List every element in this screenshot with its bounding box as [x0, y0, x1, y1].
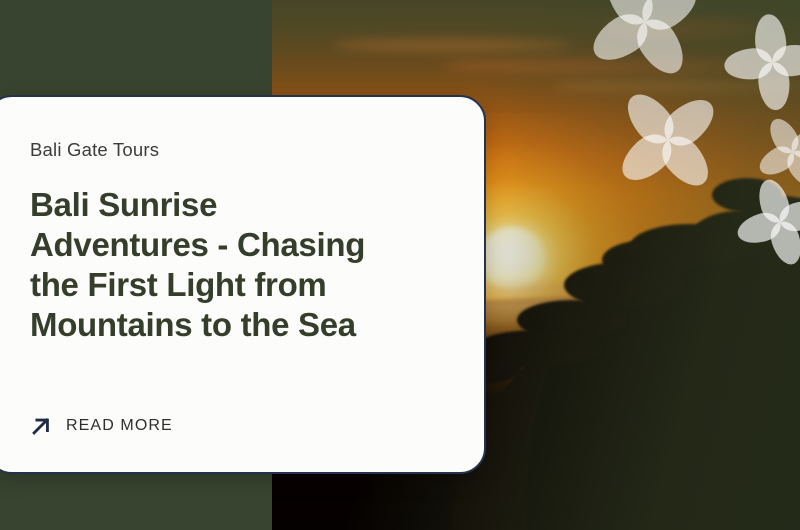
arrow-up-right-icon: [30, 415, 52, 437]
content-card: Bali Gate Tours Bali Sunrise Adventures …: [0, 95, 486, 474]
cloud-streak: [552, 80, 800, 92]
page-title: Bali Sunrise Adventures - Chasing the Fi…: [30, 185, 375, 345]
read-more-label: READ MORE: [66, 417, 173, 435]
sun-icon: [479, 227, 545, 289]
cloud-streak: [332, 38, 572, 52]
cloud-streak: [442, 58, 742, 74]
page-root: Bali Gate Tours Bali Sunrise Adventures …: [0, 0, 800, 530]
brand-label: Bali Gate Tours: [30, 139, 484, 161]
cloud-streak: [602, 18, 762, 38]
read-more-link[interactable]: READ MORE: [30, 415, 173, 437]
